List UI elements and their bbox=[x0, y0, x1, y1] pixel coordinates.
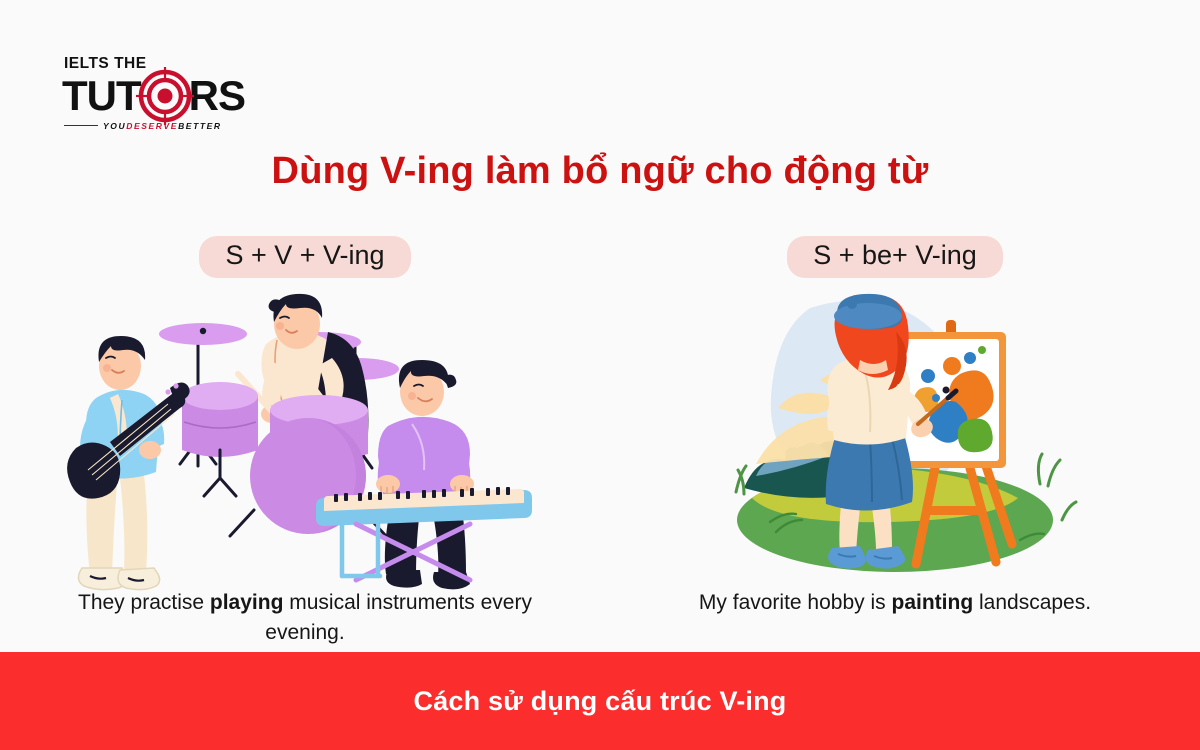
logo-wordmark: TUT RS bbox=[62, 74, 262, 118]
formula-badge-left: S + V + V-ing bbox=[199, 236, 410, 278]
caption-text-1: My favorite hobby is bbox=[699, 591, 892, 614]
example-caption-left: They practise playing musical instrument… bbox=[70, 588, 540, 648]
caption-text-2: musical instruments every evening. bbox=[265, 591, 532, 644]
formula-badge-row-right: S + be+ V-ing bbox=[660, 236, 1130, 278]
tagline-pre: YOU bbox=[103, 121, 126, 131]
bottom-banner: Cách sử dụng cấu trúc V-ing bbox=[0, 652, 1200, 750]
band-playing-instruments-illustration bbox=[70, 292, 540, 582]
target-icon bbox=[138, 69, 192, 123]
caption-bold-gerund: painting bbox=[892, 591, 974, 614]
formula-badge-right: S + be+ V-ing bbox=[787, 236, 1003, 278]
caption-text-1: They practise bbox=[78, 591, 210, 614]
example-column-right: S + be+ V-ing bbox=[660, 236, 1130, 618]
example-caption-right: My favorite hobby is painting landscapes… bbox=[660, 588, 1130, 618]
page-title: Dùng V-ing làm bổ ngữ cho động từ bbox=[0, 150, 1200, 193]
woman-painting-landscape-illustration bbox=[660, 292, 1130, 582]
caption-text-2: landscapes. bbox=[973, 591, 1091, 614]
caption-bold-gerund: playing bbox=[210, 591, 284, 614]
logo-word-left: TUT bbox=[62, 75, 141, 117]
formula-badge-row-left: S + V + V-ing bbox=[70, 236, 540, 278]
tagline-rule bbox=[64, 125, 98, 127]
brand-logo: IELTS THE TUT RS YOUDESERVEBETTER bbox=[62, 56, 262, 138]
example-column-left: S + V + V-ing bbox=[70, 236, 540, 647]
logo-word-right: RS bbox=[189, 75, 245, 117]
banner-title: Cách sử dụng cấu trúc V-ing bbox=[414, 686, 787, 717]
